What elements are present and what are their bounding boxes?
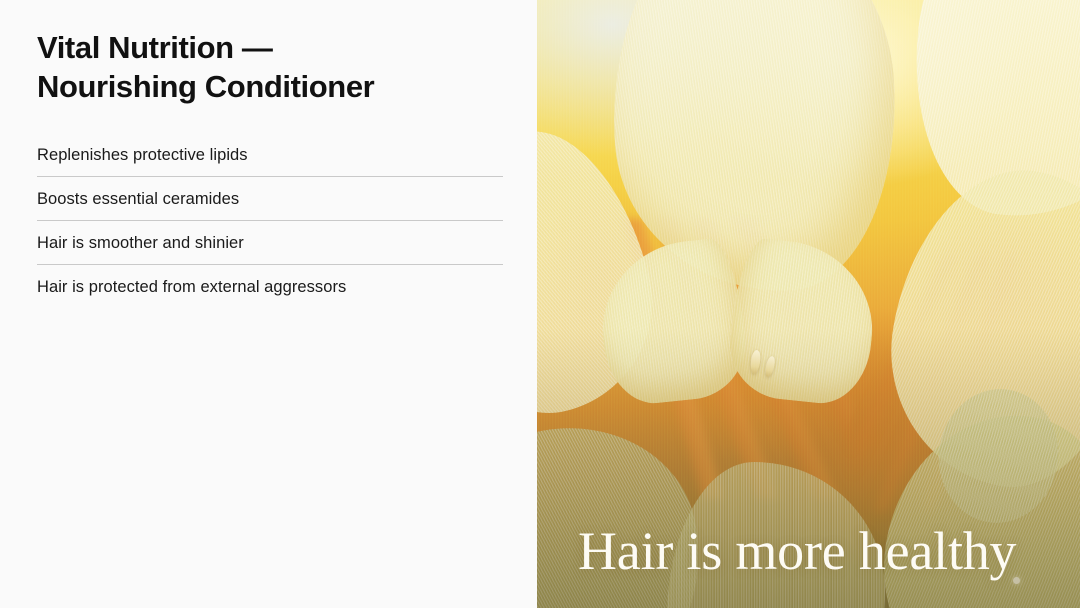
flower-photo-panel: Hair is more healthy	[537, 0, 1080, 608]
list-item: Hair is smoother and shinier	[37, 221, 503, 265]
image-caption: Hair is more healthy	[578, 522, 1016, 580]
benefit-label: Boosts essential ceramides	[37, 189, 239, 209]
left-text-panel: Vital Nutrition — Nourishing Conditioner…	[0, 0, 537, 608]
benefit-label: Replenishes protective lipids	[37, 145, 248, 165]
benefit-label: Hair is smoother and shinier	[37, 233, 244, 253]
list-item: Boosts essential ceramides	[37, 177, 503, 221]
page-title: Vital Nutrition — Nourishing Conditioner	[37, 28, 507, 106]
benefit-label: Hair is protected from external aggresso…	[37, 277, 346, 297]
benefit-list: Replenishes protective lipids Boosts ess…	[37, 133, 503, 309]
product-benefits-slide: Vital Nutrition — Nourishing Conditioner…	[0, 0, 1080, 608]
list-item: Hair is protected from external aggresso…	[37, 265, 503, 309]
list-item: Replenishes protective lipids	[37, 133, 503, 177]
top-light-sheen	[537, 0, 1080, 182]
